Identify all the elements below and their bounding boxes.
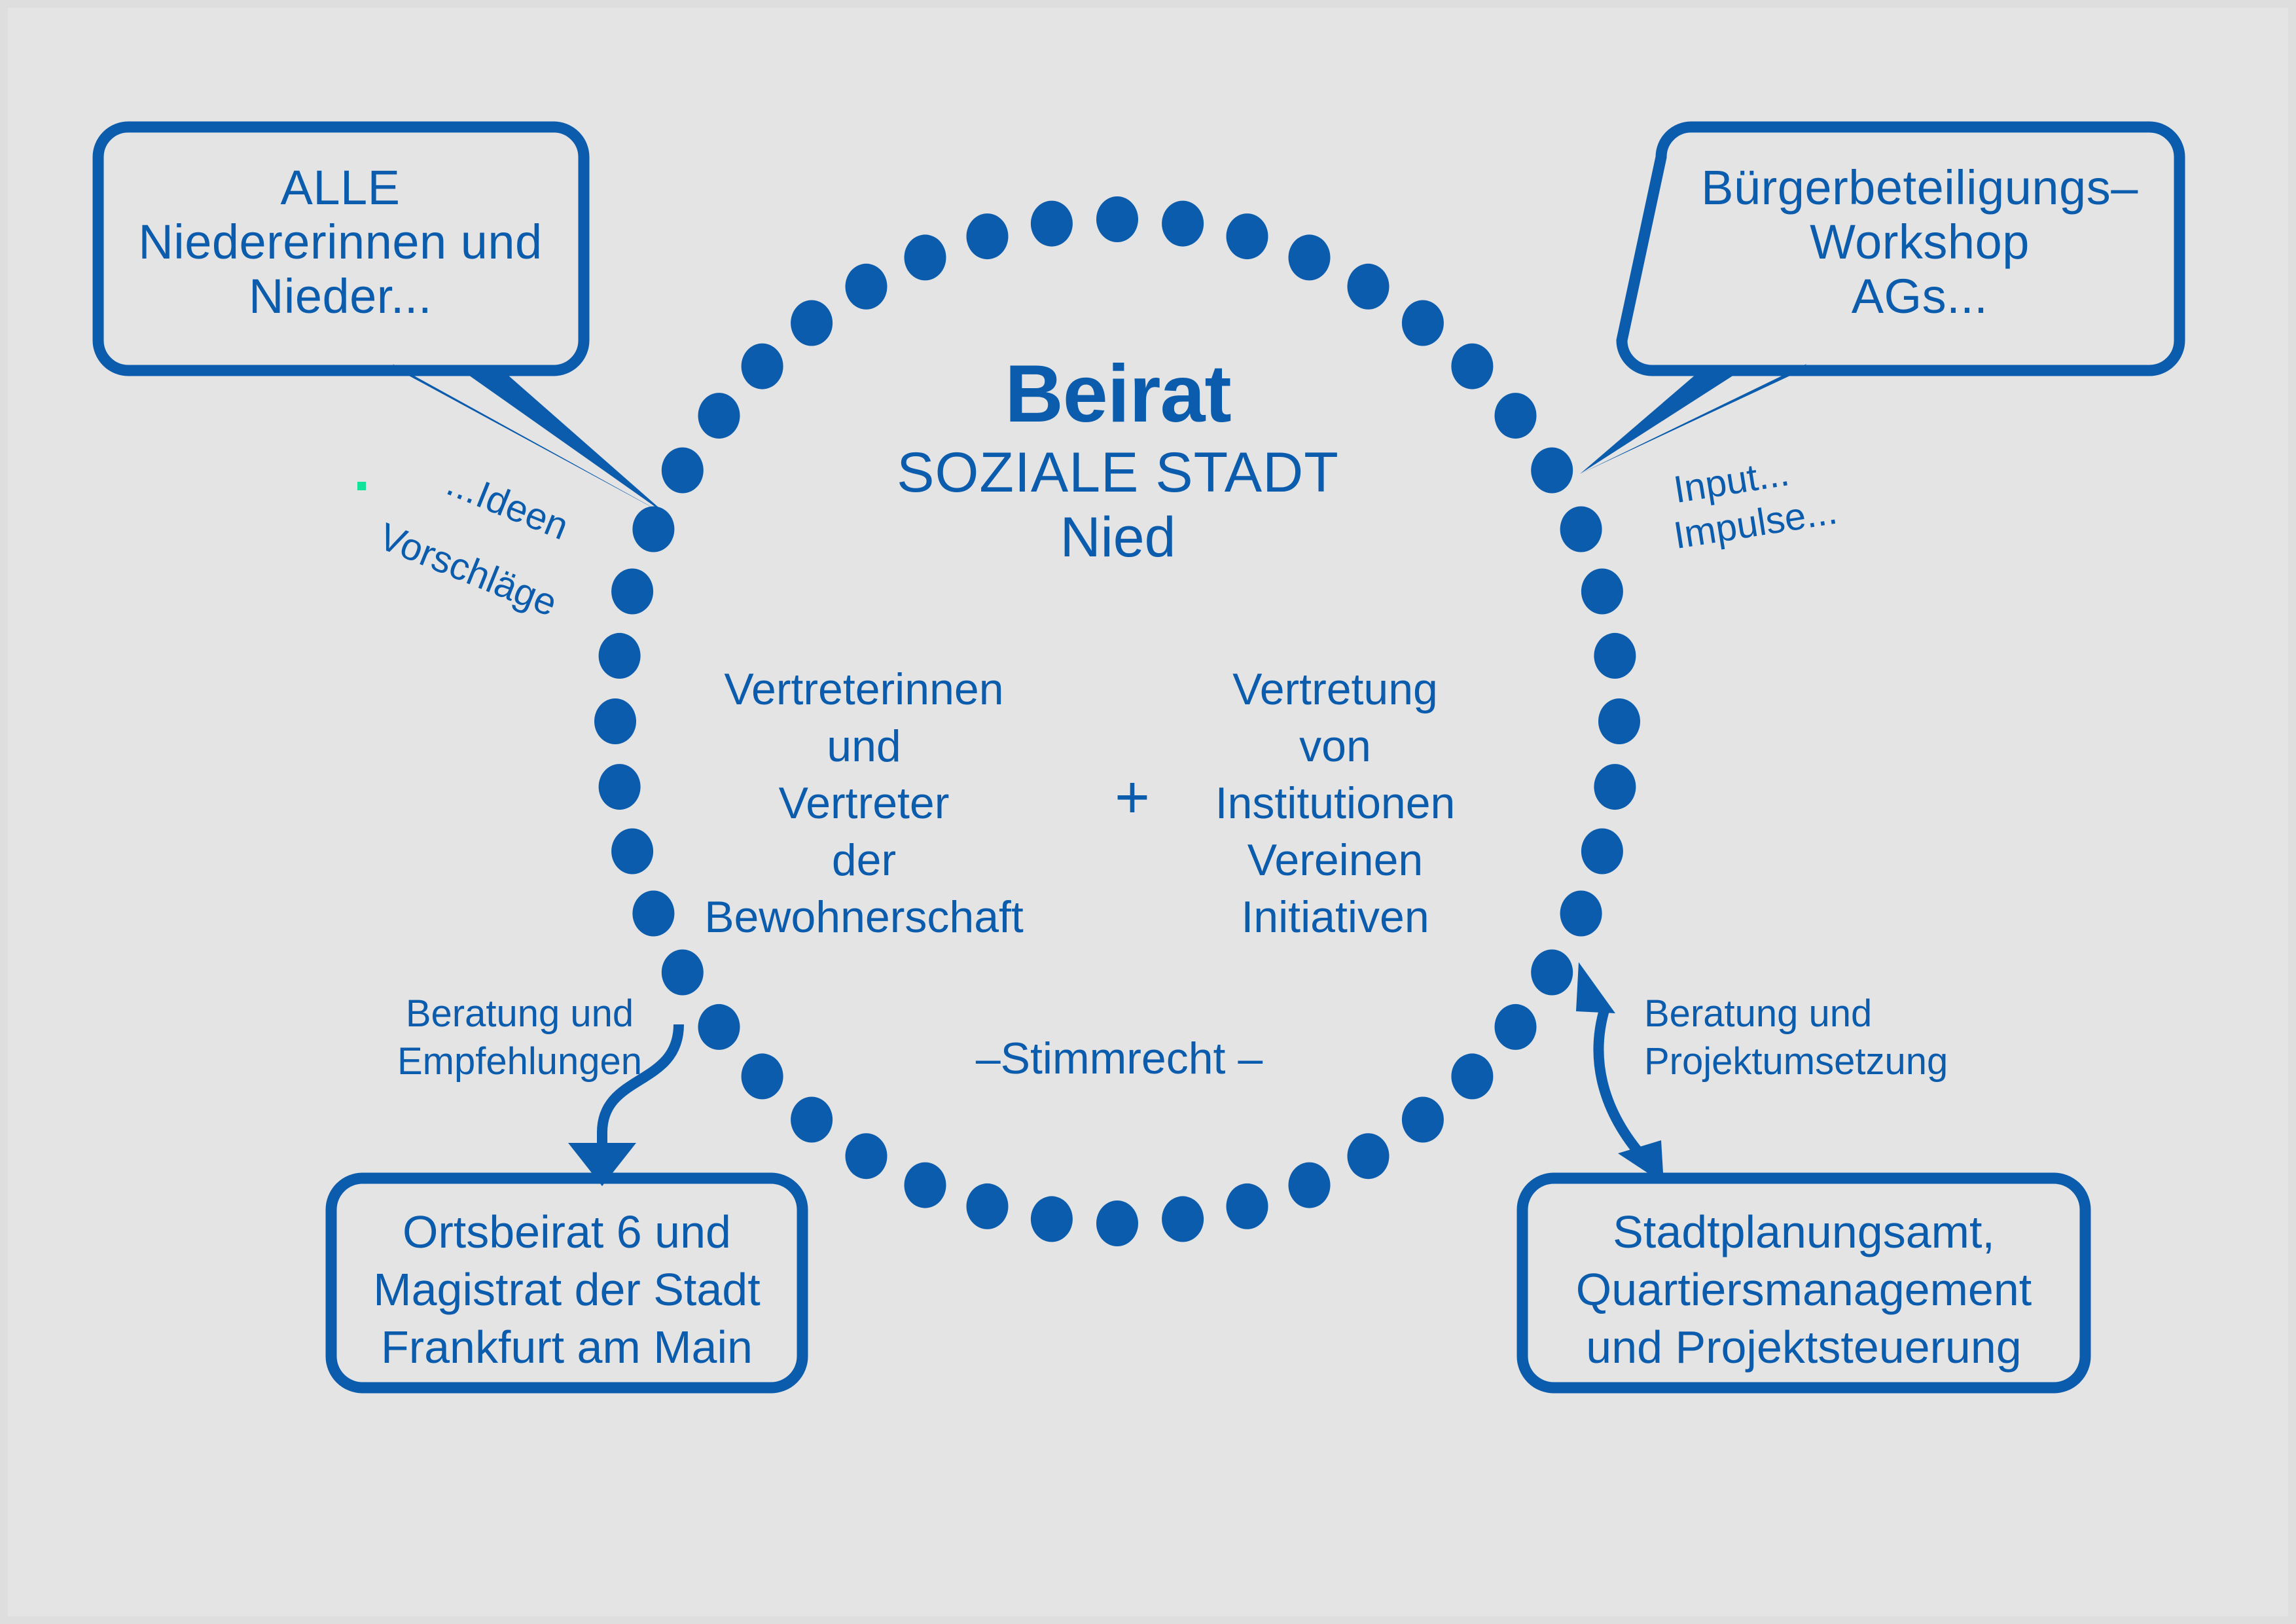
circle-dot — [632, 507, 674, 552]
arrow-label-br-line-2: Projektumsetzung — [1644, 1038, 1952, 1085]
circle-dot — [967, 213, 1009, 259]
col-right-line-4: Vereinen — [1132, 832, 1538, 889]
circle-dot — [1531, 448, 1573, 494]
box-bl-line-1: Ortsbeirat 6 und — [338, 1203, 796, 1261]
arrow-label-bottom-left: Beratung und Empfehlungen — [382, 990, 657, 1085]
circle-dot — [698, 393, 740, 439]
circle-dot — [1560, 507, 1602, 552]
circle-dot — [1495, 393, 1537, 439]
col-left-line-1: Vertreterinnen — [661, 661, 1067, 718]
circle-dot — [1227, 1183, 1268, 1229]
circle-dot — [662, 950, 704, 996]
circle-dot — [599, 633, 641, 679]
bubble-tl-line-3: Nieder... — [111, 270, 569, 324]
col-right-line-3: Institutionen — [1132, 775, 1538, 832]
circle-dot — [1289, 1163, 1331, 1208]
stimmrecht-note: –Stimmrecht – — [825, 1033, 1414, 1084]
circle-dot — [967, 1183, 1009, 1229]
circle-dot — [1451, 1053, 1493, 1099]
circle-dot — [662, 448, 704, 494]
col-right-line-1: Vertretung — [1132, 661, 1538, 718]
circle-dot — [1031, 201, 1073, 247]
circle-column-left: Vertreterinnen und Vertreter der Bewohne… — [661, 661, 1067, 946]
circle-dot — [1581, 569, 1623, 615]
circle-dot — [698, 1004, 740, 1050]
box-bl-line-3: Frankfurt am Main — [338, 1318, 796, 1376]
box-text-bottom-right: Stadtplanungsamt, Quartiersmanagement un… — [1529, 1203, 2079, 1377]
circle-dot — [1096, 196, 1138, 242]
circle-dot — [1289, 234, 1331, 280]
circle-dot — [1162, 1196, 1204, 1242]
col-left-line-4: der — [661, 832, 1067, 889]
circle-dot — [594, 698, 636, 744]
circle-dot — [1096, 1200, 1138, 1246]
bubble-text-top-right: Bürgerbeteiligungs– Workshop AGs... — [1674, 161, 2165, 324]
bubble-tr-line-3: AGs... — [1674, 270, 2165, 324]
arrow-label-br-line-1: Beratung und — [1644, 990, 1952, 1038]
circle-dot — [1402, 300, 1444, 346]
circle-dot — [905, 234, 946, 280]
box-br-line-3: und Projektsteuerung — [1529, 1318, 2079, 1376]
circle-dot — [846, 264, 888, 310]
bubble-tr-line-1: Bürgerbeteiligungs– — [1674, 161, 2165, 215]
col-right-line-2: von — [1132, 718, 1538, 775]
circle-dot — [1560, 891, 1602, 937]
col-left-line-5: Bewohnerschaft — [661, 889, 1067, 946]
circle-dot — [791, 300, 833, 346]
circle-dot — [1531, 950, 1573, 996]
circle-dot — [1594, 633, 1636, 679]
arrow-label-bl-line-2: Empfehlungen — [382, 1038, 657, 1085]
arrow-label-bl-line-1: Beratung und — [382, 990, 657, 1038]
circle-dot — [846, 1133, 888, 1179]
box-bl-line-2: Magistrat der Stadt — [338, 1261, 796, 1318]
box-br-line-2: Quartiersmanagement — [1529, 1261, 2079, 1318]
circle-subtitle: SOZIALE STADT — [758, 440, 1478, 506]
box-text-bottom-left: Ortsbeirat 6 und Magistrat der Stadt Fra… — [338, 1203, 796, 1377]
circle-dot — [1227, 213, 1268, 259]
bubble-text-top-left: ALLE Niedererinnen und Nieder... — [111, 161, 569, 324]
circle-dot — [742, 1053, 783, 1099]
col-left-line-2: und — [661, 718, 1067, 775]
circle-dot — [1348, 264, 1390, 310]
arrowhead-up-left — [1576, 962, 1615, 1013]
circle-dot — [611, 569, 653, 615]
circle-dot — [599, 764, 641, 810]
circle-dot — [1348, 1133, 1390, 1179]
bubble-tr-line-2: Workshop — [1674, 215, 2165, 270]
arrow-label-bottom-right: Beratung und Projektumsetzung — [1644, 990, 1952, 1085]
circle-title-block: Beirat SOZIALE STADT Nied — [758, 353, 1478, 569]
col-left-line-3: Vertreter — [661, 775, 1067, 832]
page-title: Beirat — [758, 353, 1478, 435]
circle-dot — [791, 1097, 833, 1143]
bubble-tl-line-2: Niedererinnen und — [111, 215, 569, 270]
circle-dot — [1495, 1004, 1537, 1050]
circle-dot — [1402, 1097, 1444, 1143]
circle-place-name: Nied — [758, 506, 1478, 569]
col-right-line-5: Initiativen — [1132, 889, 1538, 946]
circle-dot — [611, 829, 653, 875]
circle-dot — [1162, 201, 1204, 247]
circle-dot — [1031, 1196, 1073, 1242]
circle-dot — [905, 1163, 946, 1208]
box-br-line-1: Stadtplanungsamt, — [1529, 1203, 2079, 1261]
bubble-tl-line-1: ALLE — [111, 161, 569, 215]
circle-dot — [1598, 698, 1640, 744]
green-marker-dot — [357, 482, 366, 490]
circle-column-right: Vertretung von Institutionen Vereinen In… — [1132, 661, 1538, 946]
circle-dot — [1581, 829, 1623, 875]
diagram-canvas: ALLE Niedererinnen und Nieder... Bürgerb… — [0, 0, 2296, 1624]
circle-dot — [1594, 764, 1636, 810]
